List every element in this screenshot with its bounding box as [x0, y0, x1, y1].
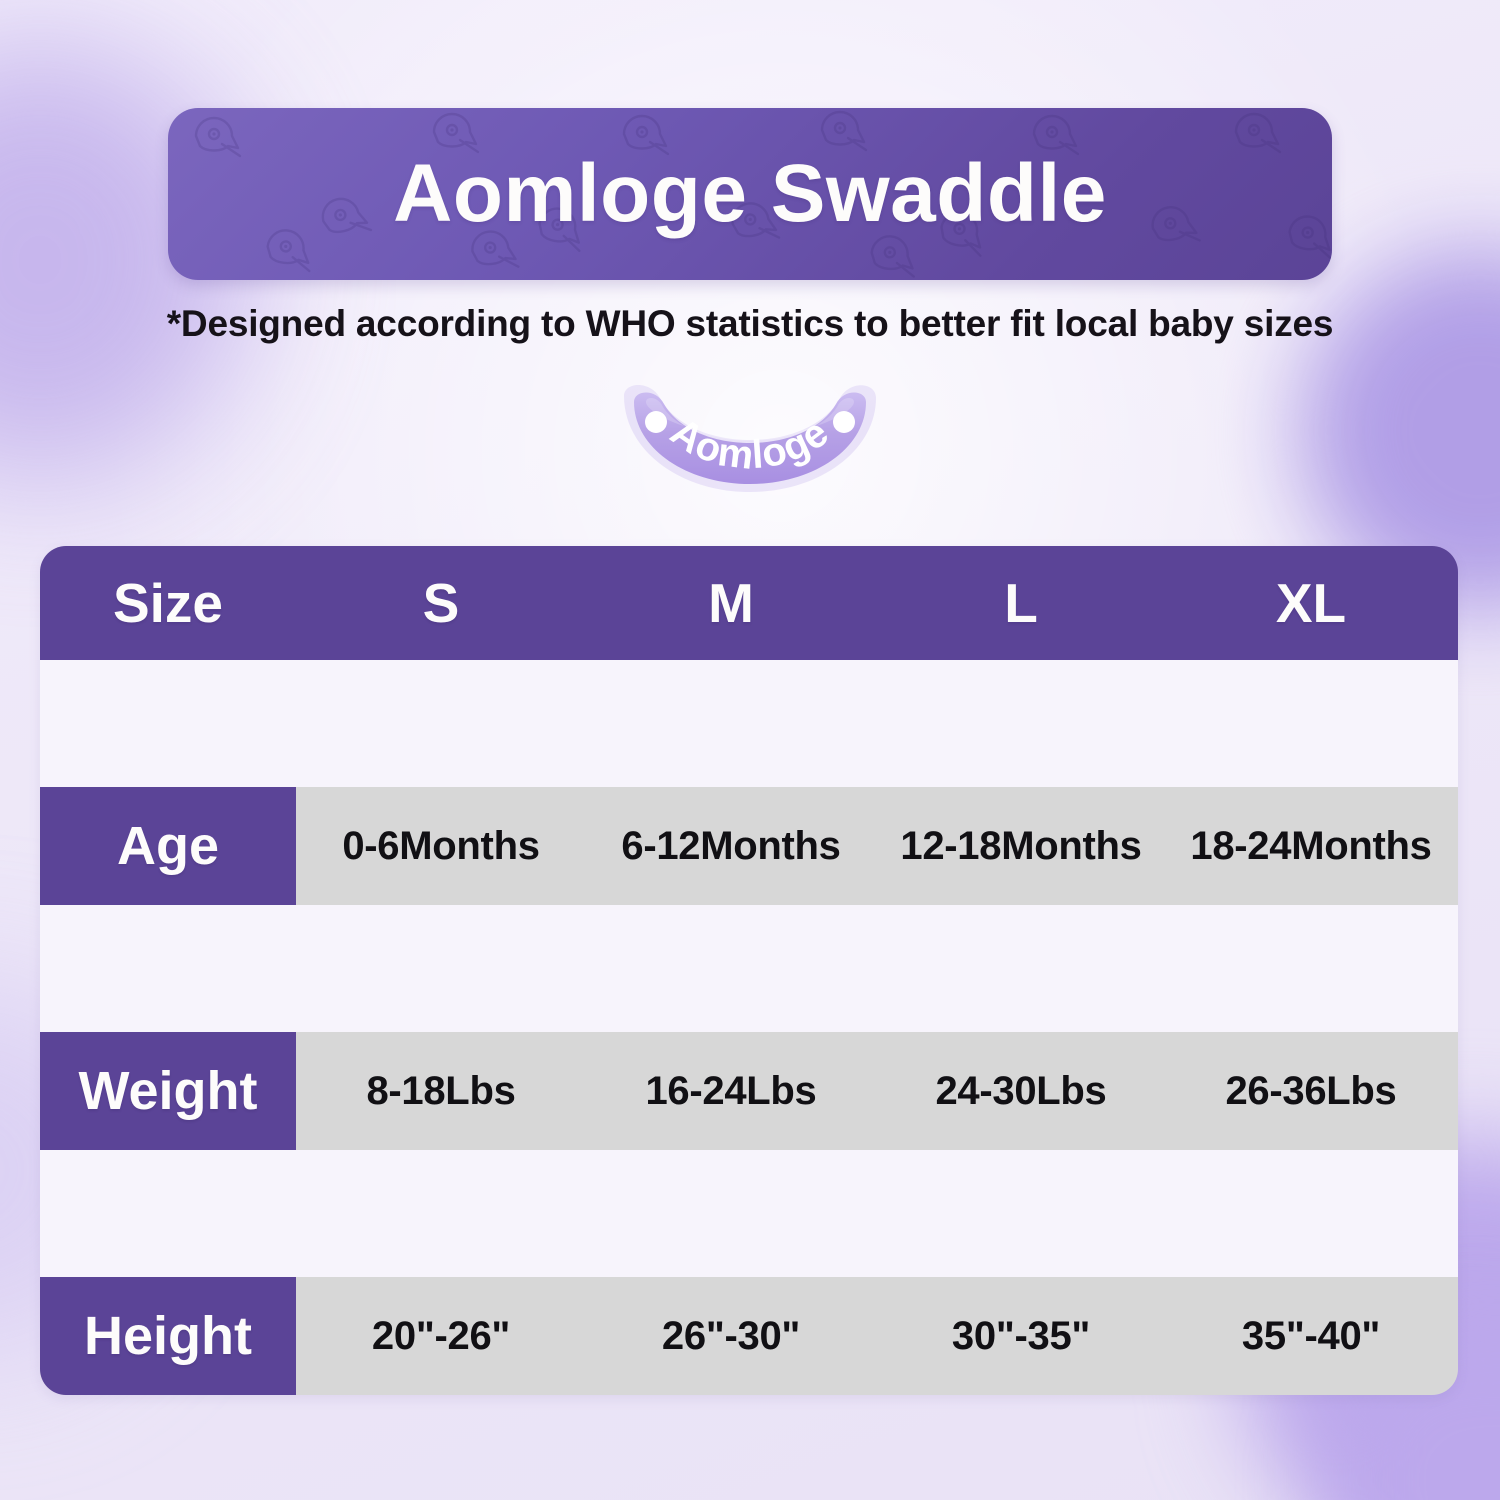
table-cell-age-m: 6-12Months: [586, 787, 876, 905]
table-spacer-cell: [40, 1150, 296, 1277]
table-header-size-m: M: [586, 546, 876, 660]
table-header-size-label: Size: [40, 546, 296, 660]
table-header-size-l: L: [876, 546, 1166, 660]
table-row-label-age: Age: [40, 787, 296, 905]
table-spacer-cell: [876, 1150, 1166, 1277]
page-title: Aomloge Swaddle: [393, 153, 1107, 235]
table-spacer-cell: [296, 1150, 586, 1277]
table-cell-height-l: 30"-35": [876, 1277, 1166, 1395]
table-spacer-cell: [1166, 660, 1456, 787]
table-cell-weight-l: 24-30Lbs: [876, 1032, 1166, 1150]
subtitle-note: *Designed according to WHO statistics to…: [0, 303, 1500, 345]
table-spacer-cell: [296, 905, 586, 1032]
table-cell-age-l: 12-18Months: [876, 787, 1166, 905]
table-spacer-cell: [1166, 1150, 1456, 1277]
logo-dot-left: [645, 411, 667, 433]
table-spacer-cell: [586, 660, 876, 787]
brand-logo: Aomloge: [606, 378, 894, 496]
table-spacer-row: [40, 660, 1458, 787]
title-banner: Aomloge Swaddle: [168, 108, 1332, 280]
table-spacer-cell: [40, 905, 296, 1032]
table-spacer-cell: [876, 905, 1166, 1032]
table-row-age: Age 0-6Months 6-12Months 12-18Months 18-…: [40, 787, 1458, 905]
table-row-label-height: Height: [40, 1277, 296, 1395]
size-chart-table: Size S M L XL Age 0-6Months 6-12Months 1…: [40, 546, 1458, 1395]
table-cell-weight-m: 16-24Lbs: [586, 1032, 876, 1150]
table-spacer-row: [40, 905, 1458, 1032]
table-cell-height-m: 26"-30": [586, 1277, 876, 1395]
table-header-size-s: S: [296, 546, 586, 660]
table-spacer-cell: [1166, 905, 1456, 1032]
table-cell-height-xl: 35"-40": [1166, 1277, 1456, 1395]
table-spacer-cell: [876, 660, 1166, 787]
table-cell-height-s: 20"-26": [296, 1277, 586, 1395]
logo-dot-right: [833, 411, 855, 433]
table-row-weight: Weight 8-18Lbs 16-24Lbs 24-30Lbs 26-36Lb…: [40, 1032, 1458, 1150]
table-spacer-cell: [296, 660, 586, 787]
table-spacer-cell: [586, 1150, 876, 1277]
table-header-row: Size S M L XL: [40, 546, 1458, 660]
table-header-size-xl: XL: [1166, 546, 1456, 660]
table-cell-weight-s: 8-18Lbs: [296, 1032, 586, 1150]
table-cell-age-xl: 18-24Months: [1166, 787, 1456, 905]
table-spacer-cell: [586, 905, 876, 1032]
table-row-height: Height 20"-26" 26"-30" 30"-35" 35"-40": [40, 1277, 1458, 1395]
table-spacer-cell: [40, 660, 296, 787]
table-row-label-weight: Weight: [40, 1032, 296, 1150]
table-cell-weight-xl: 26-36Lbs: [1166, 1032, 1456, 1150]
table-cell-age-s: 0-6Months: [296, 787, 586, 905]
table-spacer-row: [40, 1150, 1458, 1277]
